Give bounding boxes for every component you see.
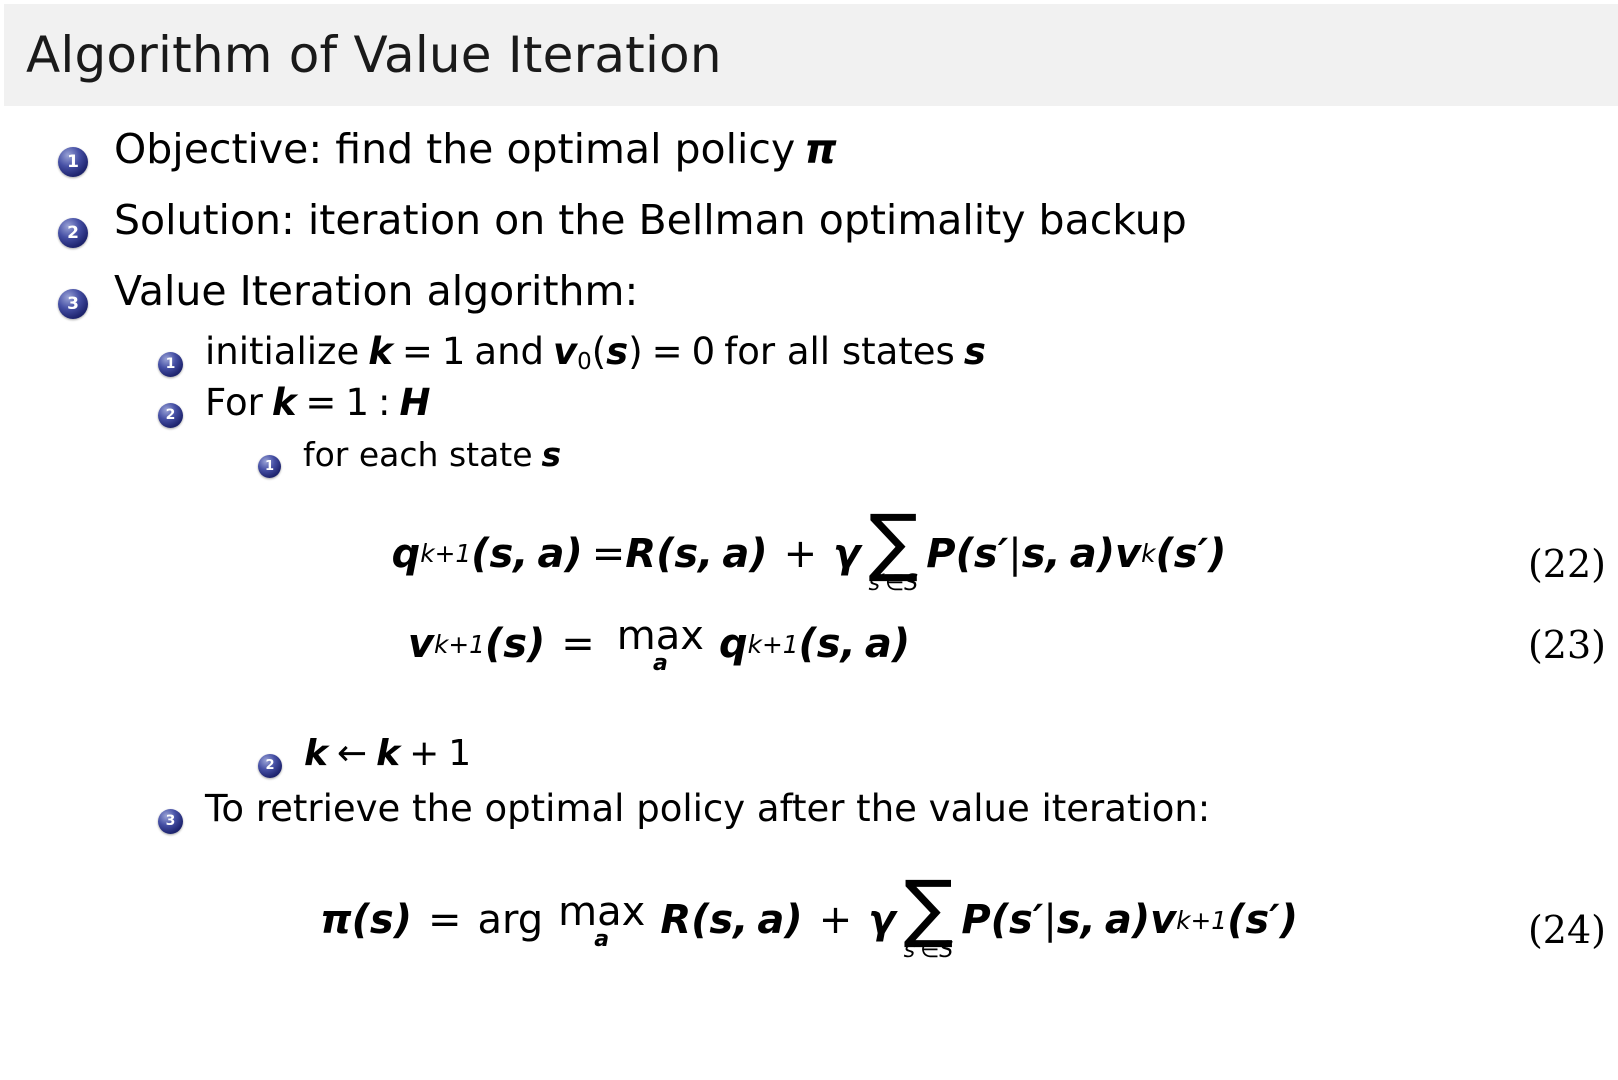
q-symbol: q [392,531,421,577]
equation-23: vk+1(s)= max a qk+1(s,a) [408,615,910,673]
bullet-ball-1: 1 [58,147,88,177]
rparen: ) [784,897,802,943]
equation-24-row: π(s)=arg max a R(s,a)+γ ∑ s′∈S P(s′|s,a)… [0,880,1618,959]
k-symbol: k [304,733,328,774]
gamma-symbol: γ [833,531,860,577]
equals-sign: = [652,330,683,373]
s-symbol: s [1022,531,1046,577]
one-literal: 1 [442,330,466,373]
list-item-solution: 2 Solution: iteration on the Bellman opt… [58,199,1618,244]
sigma-icon: ∑ [868,516,918,569]
comma: , [1081,897,1096,943]
q-subscript: k+1 [748,630,799,659]
rparen: ) [628,330,642,373]
summation-operator: ∑ s′∈S [868,516,918,595]
s-symbol: s [542,435,562,474]
slide-header: Algorithm of Value Iteration [4,4,1618,106]
initialize-word: initialize [205,330,359,373]
arg-label: arg [478,897,544,943]
R-symbol: R [660,897,691,943]
equation-22-row: qk+1(s,a)=R(s,a)+γ ∑ s′∈S P(s′|s,a)vk(s′… [0,514,1618,593]
list-item-label: initializek=1andv0(s)=0for all statess [205,333,986,374]
plus-sign: + [784,531,818,577]
equals-sign: = [402,330,433,373]
gamma-symbol: γ [868,897,895,943]
rparen: ) [564,531,582,577]
equals-sign: = [305,381,336,424]
rparen: ) [527,621,545,667]
list-item-initialize: 1 initializek=1andv0(s)=0for all statess [158,333,1618,374]
pi-symbol: π [804,125,836,173]
s-prime-symbol: s′ [1245,897,1279,943]
zero-literal: 0 [692,330,716,373]
rparen: ) [1208,531,1226,577]
page-title: Algorithm of Value Iteration [4,30,722,80]
bullet-ball-2: 2 [58,218,88,248]
pi-symbol: π [320,897,352,943]
rparen: ) [1280,897,1298,943]
summation-operator: ∑ s′∈S [903,882,953,961]
max-operator: max a [558,893,645,951]
equation-23-row: vk+1(s)= max a qk+1(s,a) (23) [0,615,1618,673]
v-symbol: v [553,330,577,373]
equation-number-23: (23) [1528,623,1606,667]
lparen: ( [1155,531,1173,577]
bullet-ball-3-2: 2 [258,754,282,778]
a-symbol: a [722,531,749,577]
assign-arrow-icon: ← [337,733,367,774]
rparen: ) [749,531,767,577]
one-literal: 1 [345,381,369,424]
s-prime-symbol: s′ [1009,897,1043,943]
rparen: ) [394,897,412,943]
a-symbol: a [757,897,784,943]
P-symbol: P [961,897,990,943]
list-item-label: To retrieve the optimal policy after the… [205,790,1210,829]
s-symbol: s [1057,897,1081,943]
list-item-objective: 1 Objective: find the optimal policyπ [58,128,1618,173]
lparen: ( [956,531,974,577]
k-symbol: k [376,733,400,774]
v-subscript: k+1 [1176,906,1227,935]
s-symbol: s [964,330,986,373]
list-item-label: Solution: iteration on the Bellman optim… [114,199,1187,242]
equals-sign: = [428,897,462,943]
lparen: ( [1227,897,1245,943]
list-item-for-loop: 2 Fork=1:H [158,384,1618,424]
H-symbol: H [399,381,430,424]
a-symbol: a [1070,531,1097,577]
comma: , [841,621,856,667]
bullet-ball-2-1: 1 [158,352,183,377]
s-symbol: s [817,621,841,667]
max-label: max [617,617,704,655]
a-symbol: a [1105,897,1132,943]
equation-number-24: (24) [1528,908,1606,952]
s-symbol: s [674,531,698,577]
rparen: ) [892,621,910,667]
equals-sign: = [561,621,595,667]
s-symbol: s [489,531,513,577]
v-symbol: v [408,621,434,667]
k-symbol: k [272,381,297,424]
q-symbol: q [719,621,748,667]
bullet-ball-2-3: 3 [158,809,183,834]
one-literal: 1 [448,733,471,774]
colon-sign: : [378,381,390,424]
s-symbol: s [709,897,733,943]
lparen: ( [656,531,674,577]
a-symbol: a [865,621,892,667]
list-item-label: k←k+1 [304,735,471,773]
lparen: ( [592,330,606,373]
slide-content: 1 Objective: find the optimal policyπ 2 … [0,106,1618,1080]
rparen: ) [1132,897,1150,943]
for-word: For [205,381,263,424]
list-item-label: Value Iteration algorithm: [114,270,638,313]
lparen: ( [799,621,817,667]
sigma-icon: ∑ [903,882,953,935]
lparen: ( [991,897,1009,943]
list-item-value-iteration: 3 Value Iteration algorithm: [58,270,1618,315]
k-symbol: k [368,330,393,373]
s-prime-symbol: s′ [1174,531,1208,577]
list-item-label: Fork=1:H [205,384,430,423]
equation-number-22: (22) [1528,542,1606,586]
P-symbol: P [926,531,955,577]
and-word: and [474,330,544,373]
forall-words: for all states [724,330,955,373]
a-symbol: a [537,531,564,577]
bullet-ball-2-2: 2 [158,403,183,428]
conditional-bar: | [1008,531,1021,577]
R-symbol: R [625,531,656,577]
v-subscript-zero: 0 [577,349,592,375]
list-item-retrieve-policy: 3 To retrieve the optimal policy after t… [158,790,1618,830]
lparen: ( [352,897,370,943]
objective-text: Objective: find the optimal policy [114,125,795,173]
foreach-words: for each state [303,435,533,474]
v-subscript: k+1 [434,630,485,659]
max-label: max [558,893,645,931]
equation-22: qk+1(s,a)=R(s,a)+γ ∑ s′∈S P(s′|s,a)vk(s′… [392,514,1227,593]
equals-sign: = [592,531,626,577]
lparen: ( [485,621,503,667]
comma: , [1046,531,1061,577]
v-symbol: v [1115,531,1141,577]
s-symbol: s [503,621,527,667]
s-prime-symbol: s′ [974,531,1008,577]
s-symbol: s [606,330,628,373]
plus-sign: + [819,897,853,943]
max-limit-a: a [594,929,609,951]
comma: , [733,897,748,943]
max-limit-a: a [653,653,668,675]
lparen: ( [471,531,489,577]
max-operator: max a [617,617,704,675]
bullet-ball-3-1: 1 [258,455,281,478]
conditional-bar: | [1043,897,1056,943]
v-symbol: v [1150,897,1176,943]
plus-sign: + [409,733,439,774]
lparen: ( [691,897,709,943]
comma: , [698,531,713,577]
list-item-for-each-state: 1 for each states [258,438,1618,474]
rparen: ) [1097,531,1115,577]
bullet-ball-3: 3 [58,289,88,319]
list-item-label: Objective: find the optimal policyπ [114,128,837,171]
v-subscript-k: k [1141,539,1155,568]
equation-24: π(s)=arg max a R(s,a)+γ ∑ s′∈S P(s′|s,a)… [320,880,1298,959]
list-item-increment-k: 2 k←k+1 [258,735,1618,774]
q-subscript: k+1 [420,539,471,568]
s-symbol: s [370,897,394,943]
comma: , [513,531,528,577]
list-item-label: for each states [303,438,561,473]
